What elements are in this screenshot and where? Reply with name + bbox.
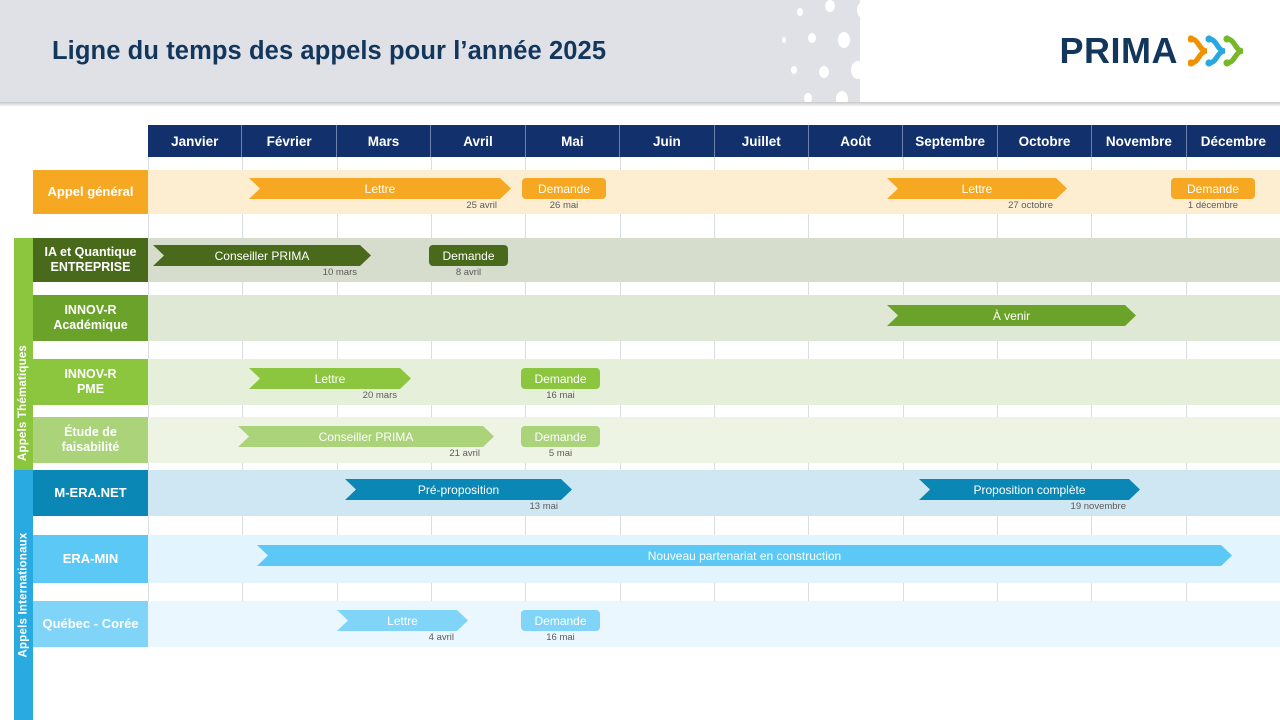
month-header-mai[interactable]: Mai	[526, 125, 620, 157]
deadline-appel-general-lettre-printemps: 25 avril	[249, 200, 511, 211]
bar-ia-quantique-entreprise-demande[interactable]: Demande	[429, 245, 508, 266]
bar-appel-general-demande-automne[interactable]: Demande	[1171, 178, 1255, 199]
deadline-appel-general-lettre-automne: 27 octobre	[887, 200, 1067, 211]
deadline-appel-general-demande-automne: 1 décembre	[1171, 200, 1255, 211]
month-header-avril[interactable]: Avril	[431, 125, 525, 157]
timeline-chart: JanvierFévrierMarsAvrilMaiJuinJuilletAoû…	[0, 107, 1280, 720]
row-label-line: INNOV-R	[64, 303, 116, 318]
bar-label: Pré-proposition	[418, 483, 499, 497]
row-label-innov-r-pme[interactable]: INNOV-RPME	[33, 359, 148, 405]
section-spine-internationaux: Appels Internationaux	[14, 470, 33, 720]
deadline-innov-r-pme-demande: 16 mai	[521, 390, 600, 401]
row-label-line: PME	[77, 382, 104, 397]
deadline-etude-de-faisabilite-conseiller-prima: 21 avril	[238, 448, 494, 459]
deadline-quebec-coree-lettre: 4 avril	[337, 632, 468, 643]
row-label-m-era-net[interactable]: M-ERA.NET	[33, 470, 148, 516]
bar-label: Lettre	[365, 182, 396, 196]
prima-logo: PRIMA	[1060, 30, 1247, 72]
bar-era-min-nouveau-partenariat[interactable]: Nouveau partenariat en construction	[257, 545, 1232, 566]
bar-quebec-coree-lettre[interactable]: Lettre	[337, 610, 468, 631]
row-label-line: ENTREPRISE	[51, 260, 131, 275]
row-band-quebec-coree	[148, 601, 1280, 647]
month-header-septembre[interactable]: Septembre	[903, 125, 997, 157]
bar-label: Proposition complète	[973, 483, 1085, 497]
deadline-ia-quantique-entreprise-conseiller-prima: 10 mars	[153, 267, 371, 278]
deadline-ia-quantique-entreprise-demande: 8 avril	[429, 267, 508, 278]
row-label-line: INNOV-R	[64, 367, 116, 382]
month-header-juillet[interactable]: Juillet	[715, 125, 809, 157]
month-header-novembre[interactable]: Novembre	[1092, 125, 1186, 157]
row-label-innov-r-academique[interactable]: INNOV-RAcadémique	[33, 295, 148, 341]
bar-label: Lettre	[315, 372, 346, 386]
bar-label: Demande	[534, 430, 586, 444]
section-spine-label: Appels Thématiques	[18, 345, 30, 461]
row-label-line: Appel général	[48, 184, 134, 199]
bar-label: Conseiller PRIMA	[215, 249, 310, 263]
deadline-etude-de-faisabilite-demande: 5 mai	[521, 448, 600, 459]
bar-label: Lettre	[387, 614, 418, 628]
section-spine-label: Appels Internationaux	[18, 533, 30, 658]
bar-label: Demande	[534, 372, 586, 386]
page-title: Ligne du temps des appels pour l’année 2…	[52, 0, 606, 102]
deadline-quebec-coree-demande: 16 mai	[521, 632, 600, 643]
bar-quebec-coree-demande[interactable]: Demande	[521, 610, 600, 631]
bar-label: À venir	[993, 309, 1030, 323]
month-header-janvier[interactable]: Janvier	[148, 125, 242, 157]
bar-m-era-net-pre-proposition[interactable]: Pré-proposition	[345, 479, 572, 500]
bar-label: Lettre	[962, 182, 993, 196]
bar-innov-r-pme-demande[interactable]: Demande	[521, 368, 600, 389]
bar-label: Demande	[1187, 182, 1239, 196]
bar-innov-r-pme-lettre[interactable]: Lettre	[249, 368, 411, 389]
bar-label: Demande	[534, 614, 586, 628]
month-header-août[interactable]: Août	[809, 125, 903, 157]
deadline-appel-general-demande-printemps: 26 mai	[522, 200, 606, 211]
row-label-line: M-ERA.NET	[54, 485, 126, 500]
bar-label: Demande	[442, 249, 494, 263]
bar-ia-quantique-entreprise-conseiller-prima[interactable]: Conseiller PRIMA	[153, 245, 371, 266]
prima-chevron-icon	[1188, 30, 1246, 72]
month-header-février[interactable]: Février	[242, 125, 336, 157]
deadline-m-era-net-proposition-complete: 19 novembre	[919, 501, 1140, 512]
row-label-line: ERA-MIN	[63, 551, 119, 566]
row-label-etude-de-faisabilite[interactable]: Étude defaisabilité	[33, 417, 148, 463]
row-label-ia-quantique-entreprise[interactable]: IA et QuantiqueENTREPRISE	[33, 238, 148, 282]
row-label-line: IA et Quantique	[45, 245, 137, 260]
bar-etude-de-faisabilite-demande[interactable]: Demande	[521, 426, 600, 447]
row-label-quebec-coree[interactable]: Québec - Corée	[33, 601, 148, 647]
page-header: Ligne du temps des appels pour l’année 2…	[0, 0, 1280, 102]
bar-m-era-net-proposition-complete[interactable]: Proposition complète	[919, 479, 1140, 500]
deadline-innov-r-pme-lettre: 20 mars	[249, 390, 411, 401]
bar-label: Demande	[538, 182, 590, 196]
bar-appel-general-lettre-printemps[interactable]: Lettre	[249, 178, 511, 199]
bar-appel-general-demande-printemps[interactable]: Demande	[522, 178, 606, 199]
bar-etude-de-faisabilite-conseiller-prima[interactable]: Conseiller PRIMA	[238, 426, 494, 447]
bar-label: Nouveau partenariat en construction	[648, 549, 841, 563]
bar-innov-r-academique-a-venir[interactable]: À venir	[887, 305, 1136, 326]
logo-wordmark: PRIMA	[1060, 33, 1179, 69]
row-label-line: Académique	[53, 318, 127, 333]
row-label-line: Québec - Corée	[42, 616, 138, 631]
month-header-octobre[interactable]: Octobre	[998, 125, 1092, 157]
row-label-appel-general[interactable]: Appel général	[33, 170, 148, 214]
row-label-era-min[interactable]: ERA-MIN	[33, 535, 148, 583]
bar-label: Conseiller PRIMA	[319, 430, 414, 444]
row-label-line: Étude de	[64, 425, 117, 440]
month-header-row: JanvierFévrierMarsAvrilMaiJuinJuilletAoû…	[148, 125, 1280, 157]
deadline-m-era-net-pre-proposition: 13 mai	[345, 501, 572, 512]
bar-appel-general-lettre-automne[interactable]: Lettre	[887, 178, 1067, 199]
month-header-juin[interactable]: Juin	[620, 125, 714, 157]
row-label-line: faisabilité	[62, 440, 120, 455]
month-header-mars[interactable]: Mars	[337, 125, 431, 157]
month-header-décembre[interactable]: Décembre	[1187, 125, 1280, 157]
